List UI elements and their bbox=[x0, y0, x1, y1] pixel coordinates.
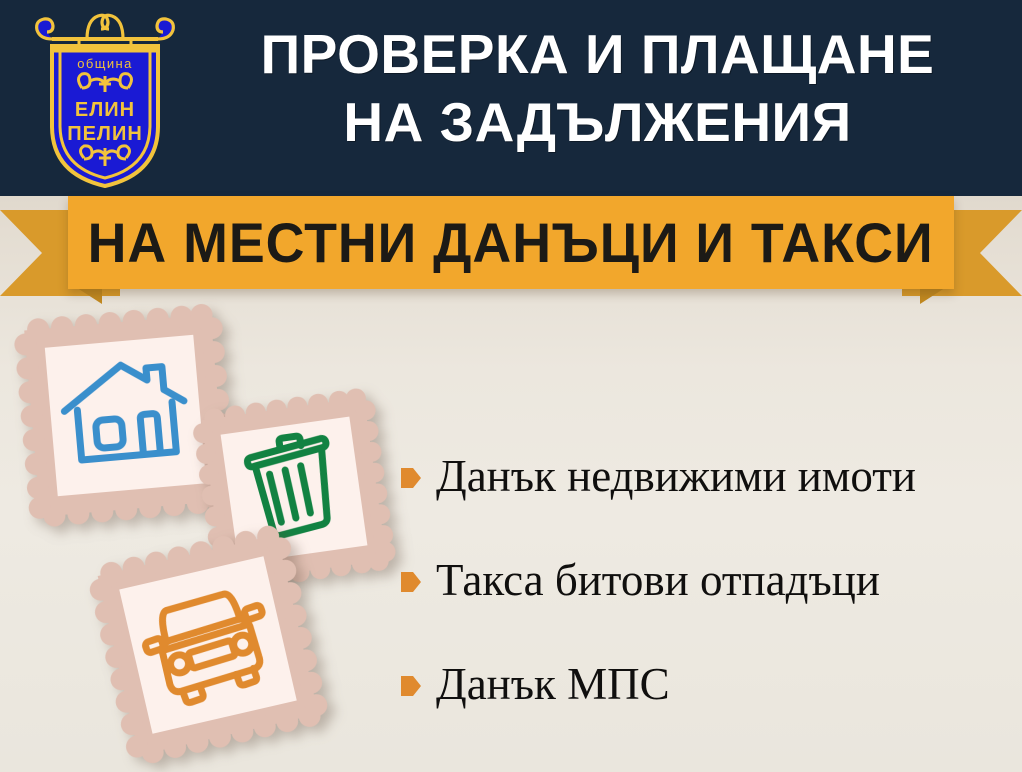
stamp-group bbox=[0, 300, 420, 772]
header-title-group: ПРОВЕРКА И ПЛАЩАНЕ НА ЗАДЪЛЖЕНИЯ bbox=[190, 20, 1005, 156]
stamp-paper bbox=[45, 335, 206, 496]
crest-label-line2: ПЕЛИН bbox=[67, 123, 143, 145]
tax-type-list: Данък недвижими имоти Такса битови отпад… bbox=[400, 424, 1010, 736]
header-bar: община ЕЛИН ПЕЛИН bbox=[0, 0, 1022, 196]
ribbon-band: НА МЕСТНИ ДАНЪЦИ И ТАКСИ bbox=[68, 196, 954, 289]
arrow-bullet-icon bbox=[400, 673, 422, 699]
list-item-label: Данък МПС bbox=[436, 659, 670, 709]
list-item-label: Такса битови отпадъци bbox=[436, 555, 880, 605]
arrow-bullet-icon bbox=[400, 569, 422, 595]
page-title-line-2: НА ЗАДЪЛЖЕНИЯ bbox=[190, 88, 1005, 156]
list-item[interactable]: Такса битови отпадъци bbox=[400, 528, 1010, 632]
ribbon-text: НА МЕСТНИ ДАНЪЦИ И ТАКСИ bbox=[88, 215, 934, 271]
crest-label-line1: ЕЛИН bbox=[75, 99, 135, 121]
subtitle-ribbon: НА МЕСТНИ ДАНЪЦИ И ТАКСИ bbox=[0, 196, 1022, 311]
page-title-line-1: ПРОВЕРКА И ПЛАЩАНЕ bbox=[190, 20, 1005, 88]
list-item[interactable]: Данък МПС bbox=[400, 632, 1010, 736]
poster-canvas: община ЕЛИН ПЕЛИН bbox=[0, 0, 1022, 772]
arrow-bullet-icon bbox=[400, 465, 422, 491]
list-item[interactable]: Данък недвижими имоти bbox=[400, 424, 1010, 528]
crest-label-top: община bbox=[77, 56, 132, 71]
municipality-crest: община ЕЛИН ПЕЛИН bbox=[30, 6, 180, 191]
list-item-label: Данък недвижими имоти bbox=[436, 451, 916, 501]
